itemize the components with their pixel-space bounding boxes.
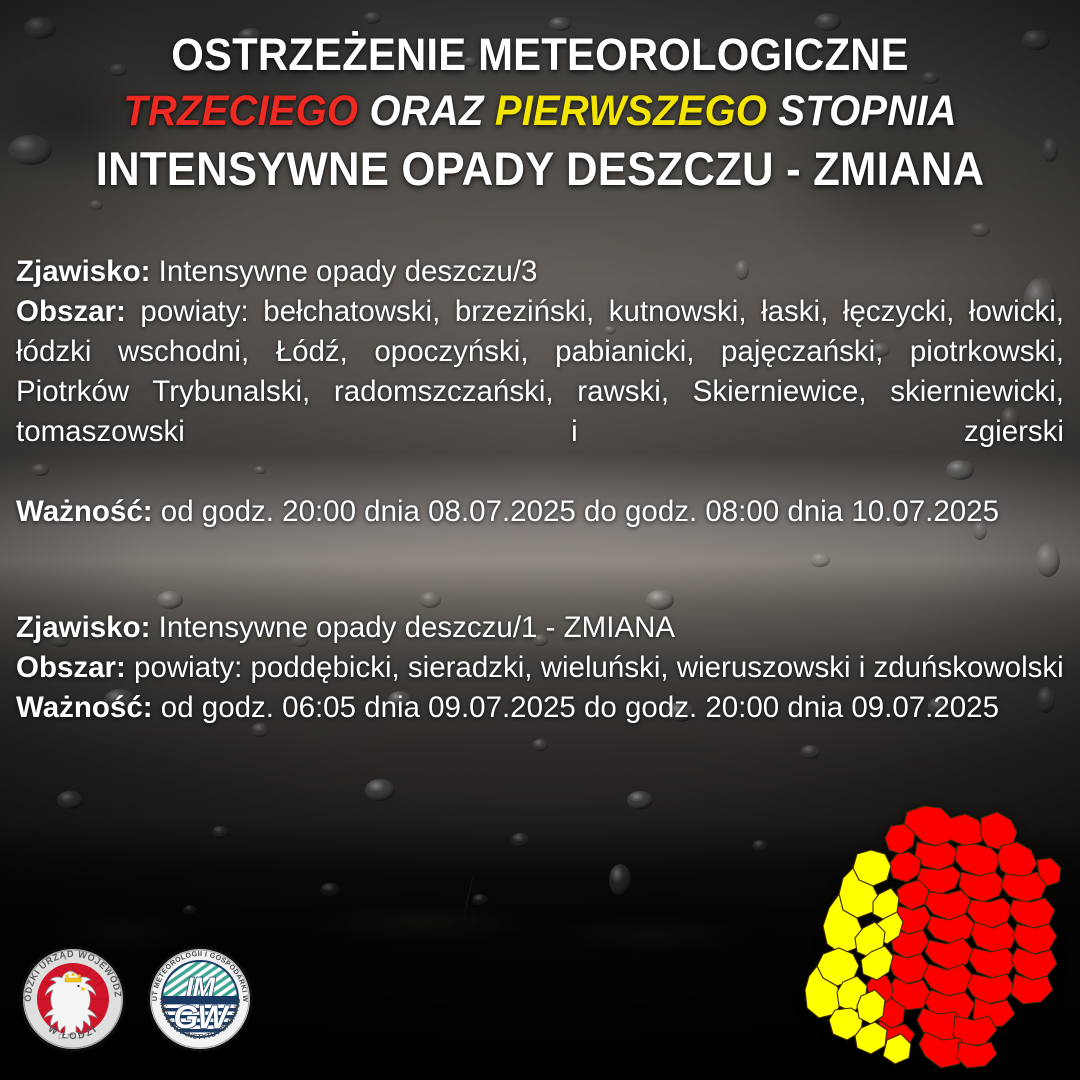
title-level-3-word: TRZECIEGO — [123, 87, 358, 135]
svg-text:IM: IM — [186, 972, 216, 1002]
warning-2-validity-label: Ważność: — [16, 691, 153, 724]
warning-2-area-label: Obszar: — [16, 651, 126, 684]
warning-1-validity-row: Ważność: od godz. 20:00 dnia 08.07.2025 … — [16, 492, 1064, 572]
warning-2-validity-row: Ważność: od godz. 06:05 dnia 09.07.2025 … — [16, 688, 1064, 768]
warning-1-validity-label: Ważność: — [16, 495, 153, 528]
title-conjunction: ORAZ — [358, 87, 495, 135]
warning-poster: OSTRZEŻENIE METEOROLOGICZNE TRZECIEGO OR… — [0, 0, 1080, 1080]
warning-1-area-label: Obszar: — [16, 295, 126, 328]
poster-title: OSTRZEŻENIE METEOROLOGICZNE TRZECIEGO OR… — [0, 26, 1080, 197]
warning-2-area-value: powiaty: poddębicki, sieradzki, wieluńsk… — [134, 651, 1064, 684]
warning-1-validity-value: od godz. 20:00 dnia 08.07.2025 do godz. … — [161, 495, 999, 528]
title-degree-word: STOPNIA — [767, 87, 957, 135]
warning-2-validity-value: od godz. 06:05 dnia 09.07.2025 do godz. … — [161, 691, 999, 724]
warning-1-area-value: powiaty: bełchatowski, brzeziński, kutno… — [16, 295, 1064, 448]
title-line-3: INTENSYWNE OPADY DESZCZU - ZMIANA — [38, 140, 1042, 197]
title-line-1: OSTRZEŻENIE METEOROLOGICZNE — [38, 26, 1042, 83]
warning-2-phenomenon-label: Zjawisko: — [16, 611, 150, 644]
logo-row: ŁÓDZKI URZĄD WOJEWÓDZKI W ŁODZI — [18, 938, 255, 1060]
warning-block-2: Zjawisko: Intensywne opady deszczu/1 - Z… — [16, 608, 1064, 768]
warning-2-phenomenon-value: Intensywne opady deszczu/1 - ZMIANA — [159, 611, 675, 644]
lodzkie-districts-map — [795, 802, 1080, 1080]
lodzki-urzad-wojewodzki-logo: ŁÓDZKI URZĄD WOJEWÓDZKI W ŁODZI — [18, 938, 128, 1060]
title-line-2: TRZECIEGO ORAZ PIERWSZEGO STOPNIA — [38, 83, 1042, 140]
imgw-logo: IM GW INSTYTUT METEOROLOGII I GOSPODARKI… — [145, 938, 255, 1060]
warning-2-phenomenon-row: Zjawisko: Intensywne opady deszczu/1 - Z… — [16, 608, 1064, 648]
warning-1-phenomenon-label: Zjawisko: — [16, 255, 150, 288]
warning-map — [795, 802, 1080, 1080]
warning-1-phenomenon-value: Intensywne opady deszczu/3 — [159, 255, 538, 288]
warning-1-phenomenon-row: Zjawisko: Intensywne opady deszczu/3 — [16, 252, 1064, 292]
title-level-1-word: PIERWSZEGO — [495, 87, 767, 135]
warning-1-area-row: Obszar: powiaty: bełchatowski, brzezińsk… — [16, 292, 1064, 492]
warning-2-area-row: Obszar: powiaty: poddębicki, sieradzki, … — [16, 648, 1064, 688]
warning-block-1: Zjawisko: Intensywne opady deszczu/3 Obs… — [16, 252, 1064, 572]
